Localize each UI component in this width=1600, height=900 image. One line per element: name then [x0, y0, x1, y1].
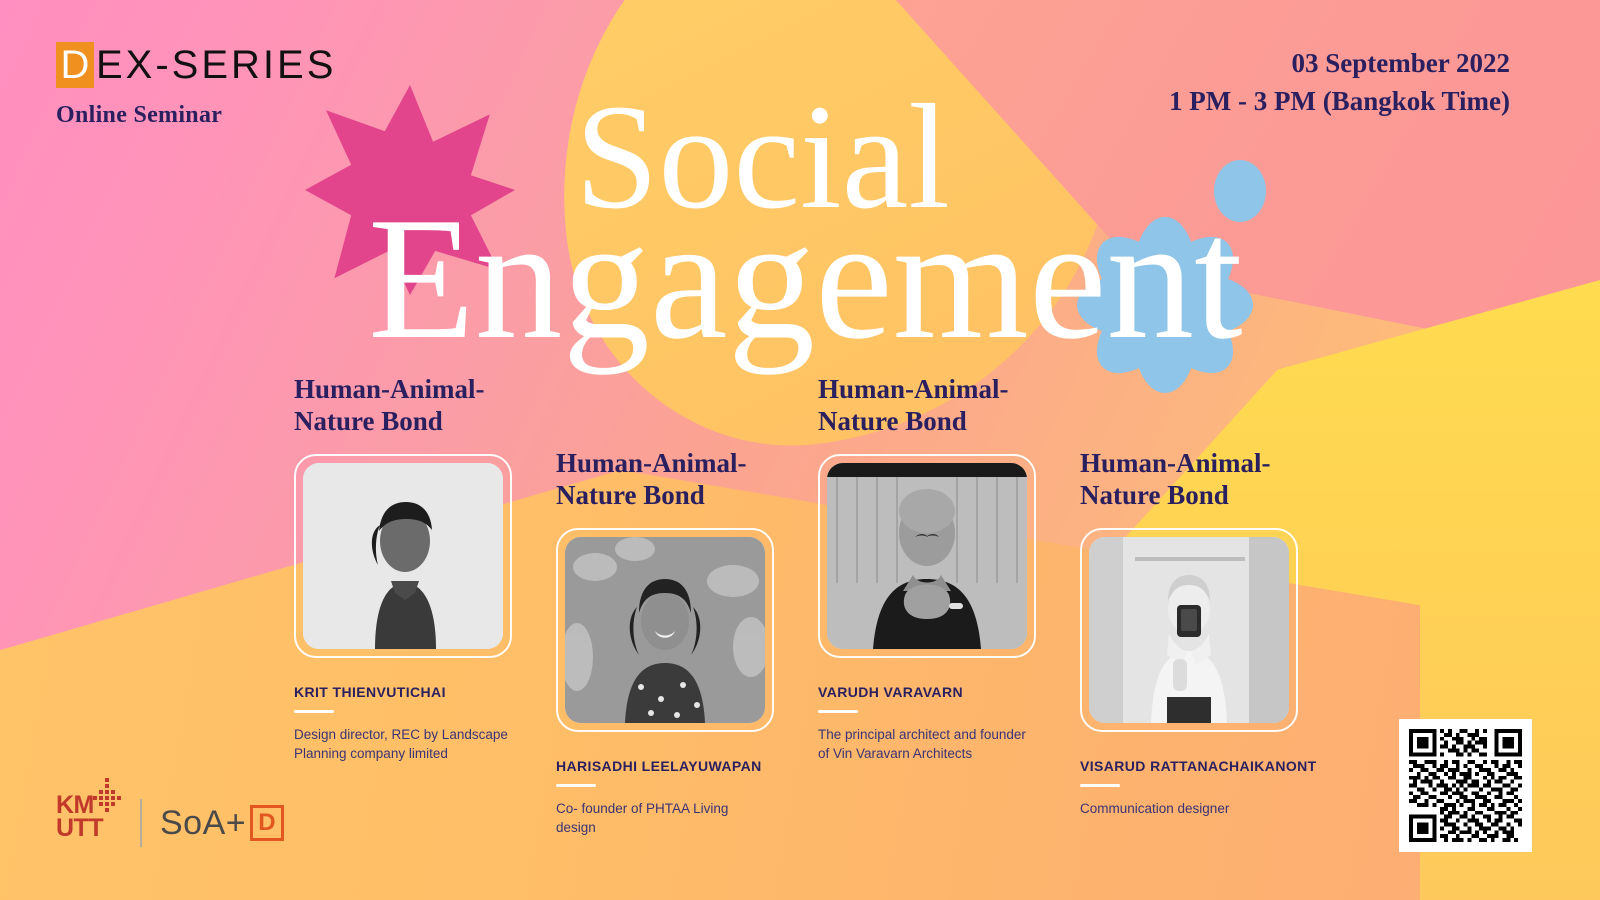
schedule-block: 03 September 2022 1 PM - 3 PM (Bangkok T… [1169, 44, 1510, 121]
qr-code-graphic [1409, 729, 1522, 842]
speaker-name: VISARUD RATTANACHAIKANONT [1080, 758, 1317, 774]
speaker-role: Co- founder of PHTAA Living design [556, 799, 771, 837]
speaker-photo [303, 463, 503, 649]
speaker-photo-frame [294, 454, 512, 658]
speaker-role: The principal architect and founder of V… [818, 725, 1033, 763]
portrait-illustration [827, 463, 1027, 649]
speaker-topic: Human-Animal- Nature Bond [1080, 448, 1317, 512]
star-burst-icon [305, 85, 515, 295]
soad-text: SoA+ [160, 804, 246, 843]
kmutt-logo: KM UTT [56, 794, 122, 852]
speaker-divider [818, 710, 858, 713]
event-poster: D EX-SERIES Online Seminar 03 September … [0, 0, 1600, 900]
brand-subtitle: Online Seminar [56, 102, 336, 129]
speaker-photo [827, 463, 1027, 649]
speaker-photo-frame [818, 454, 1036, 658]
speaker-name: HARISADHI LEELAYUWAPAN [556, 758, 774, 774]
speaker-photo [565, 537, 765, 723]
soad-d-badge: D [250, 805, 284, 841]
speaker-topic: Human-Animal- Nature Bond [294, 374, 512, 438]
kmutt-dot-cross-icon [86, 776, 128, 818]
speaker-card: Human-Animal- Nature Bond [556, 448, 774, 837]
speaker-role: Design director, REC by Landscape Planni… [294, 725, 509, 763]
logo-divider [140, 799, 142, 847]
speaker-name: KRIT THIENVUTICHAI [294, 684, 512, 700]
brand-logo: D EX-SERIES Online Seminar [56, 42, 336, 129]
portrait-illustration [1089, 537, 1289, 723]
portrait-illustration [565, 537, 765, 723]
speaker-photo [1089, 537, 1289, 723]
qr-code[interactable] [1399, 719, 1532, 852]
speaker-card: Human-Animal- Nature Bond [818, 374, 1036, 763]
footer-logos: KM UTT SoA+ D [56, 794, 284, 852]
speaker-divider [556, 784, 596, 787]
speaker-topic: Human-Animal- Nature Bond [818, 374, 1036, 438]
kmutt-line-2: UTT [56, 817, 122, 840]
event-date: 03 September 2022 [1169, 44, 1510, 82]
blue-flower-icon [1070, 210, 1260, 400]
speaker-card: Human-Animal- Nature Bond KRIT THIENVUTI… [294, 374, 512, 763]
speaker-divider [294, 710, 334, 713]
speaker-role: Communication designer [1080, 799, 1295, 818]
soad-logo: SoA+ D [160, 804, 284, 843]
portrait-illustration [303, 463, 503, 649]
speaker-photo-frame [1080, 528, 1298, 732]
speaker-name: VARUDH VARAVARN [818, 684, 1036, 700]
brand-logo-text: EX-SERIES [96, 45, 336, 85]
brand-logo-initial: D [56, 42, 94, 88]
speaker-card: Human-Animal- Nature Bond [1080, 448, 1317, 818]
speaker-photo-frame [556, 528, 774, 732]
speaker-topic: Human-Animal- Nature Bond [556, 448, 774, 512]
speaker-divider [1080, 784, 1120, 787]
event-time: 1 PM - 3 PM (Bangkok Time) [1169, 82, 1510, 120]
